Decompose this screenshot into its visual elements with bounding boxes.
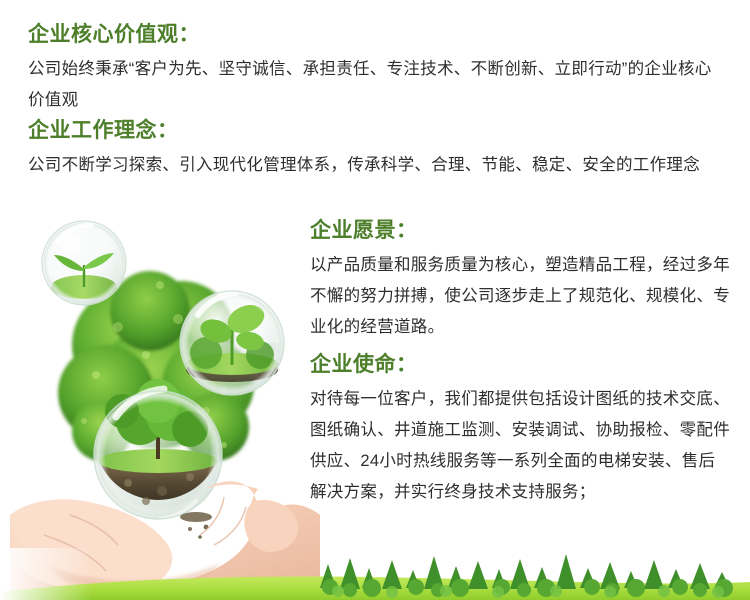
falling-soil bbox=[180, 512, 212, 539]
heading-core-values: 企业核心价值观： bbox=[28, 22, 728, 48]
section-work-philosophy: 企业工作理念： 公司不断学习探索、引入现代化管理体系，传承科学、合理、节能、稳定… bbox=[28, 118, 728, 181]
body-work-philosophy: 公司不断学习探索、引入现代化管理体系，传承科学、合理、节能、稳定、安全的工作理念 bbox=[28, 150, 728, 181]
glass-sphere-seedling bbox=[180, 291, 284, 395]
glass-sphere-sprout bbox=[42, 221, 126, 305]
promotional-graphic-page: 企业核心价值观： 公司始终秉承“客户为先、坚守诚信、承担责任、专注技术、不断创新… bbox=[0, 0, 750, 600]
section-mission: 企业使命： 对待每一位客户，我们都提供包括设计图纸的技术交底、图纸确认、井道施工… bbox=[310, 352, 735, 508]
section-vision: 企业愿景： 以产品质量和服务质量为核心，塑造精品工程，经过多年不懈的努力拼搏，使… bbox=[310, 218, 735, 343]
hands-holding-spheres-image bbox=[10, 215, 320, 600]
section-core-values: 企业核心价值观： 公司始终秉承“客户为先、坚守诚信、承担责任、专注技术、不断创新… bbox=[28, 22, 728, 116]
heading-mission: 企业使命： bbox=[310, 352, 735, 378]
body-vision: 以产品质量和服务质量为核心，塑造精品工程，经过多年不懈的努力拼搏，使公司逐步走上… bbox=[310, 250, 730, 343]
bottom-forest-banner bbox=[0, 548, 750, 600]
heading-work-philosophy: 企业工作理念： bbox=[28, 118, 728, 144]
body-mission: 对待每一位客户，我们都提供包括设计图纸的技术交底、图纸确认、井道施工监测、安装调… bbox=[310, 384, 730, 508]
body-core-values: 公司始终秉承“客户为先、坚守诚信、承担责任、专注技术、不断创新、立即行动”的企业… bbox=[28, 54, 728, 116]
heading-vision: 企业愿景： bbox=[310, 218, 735, 244]
